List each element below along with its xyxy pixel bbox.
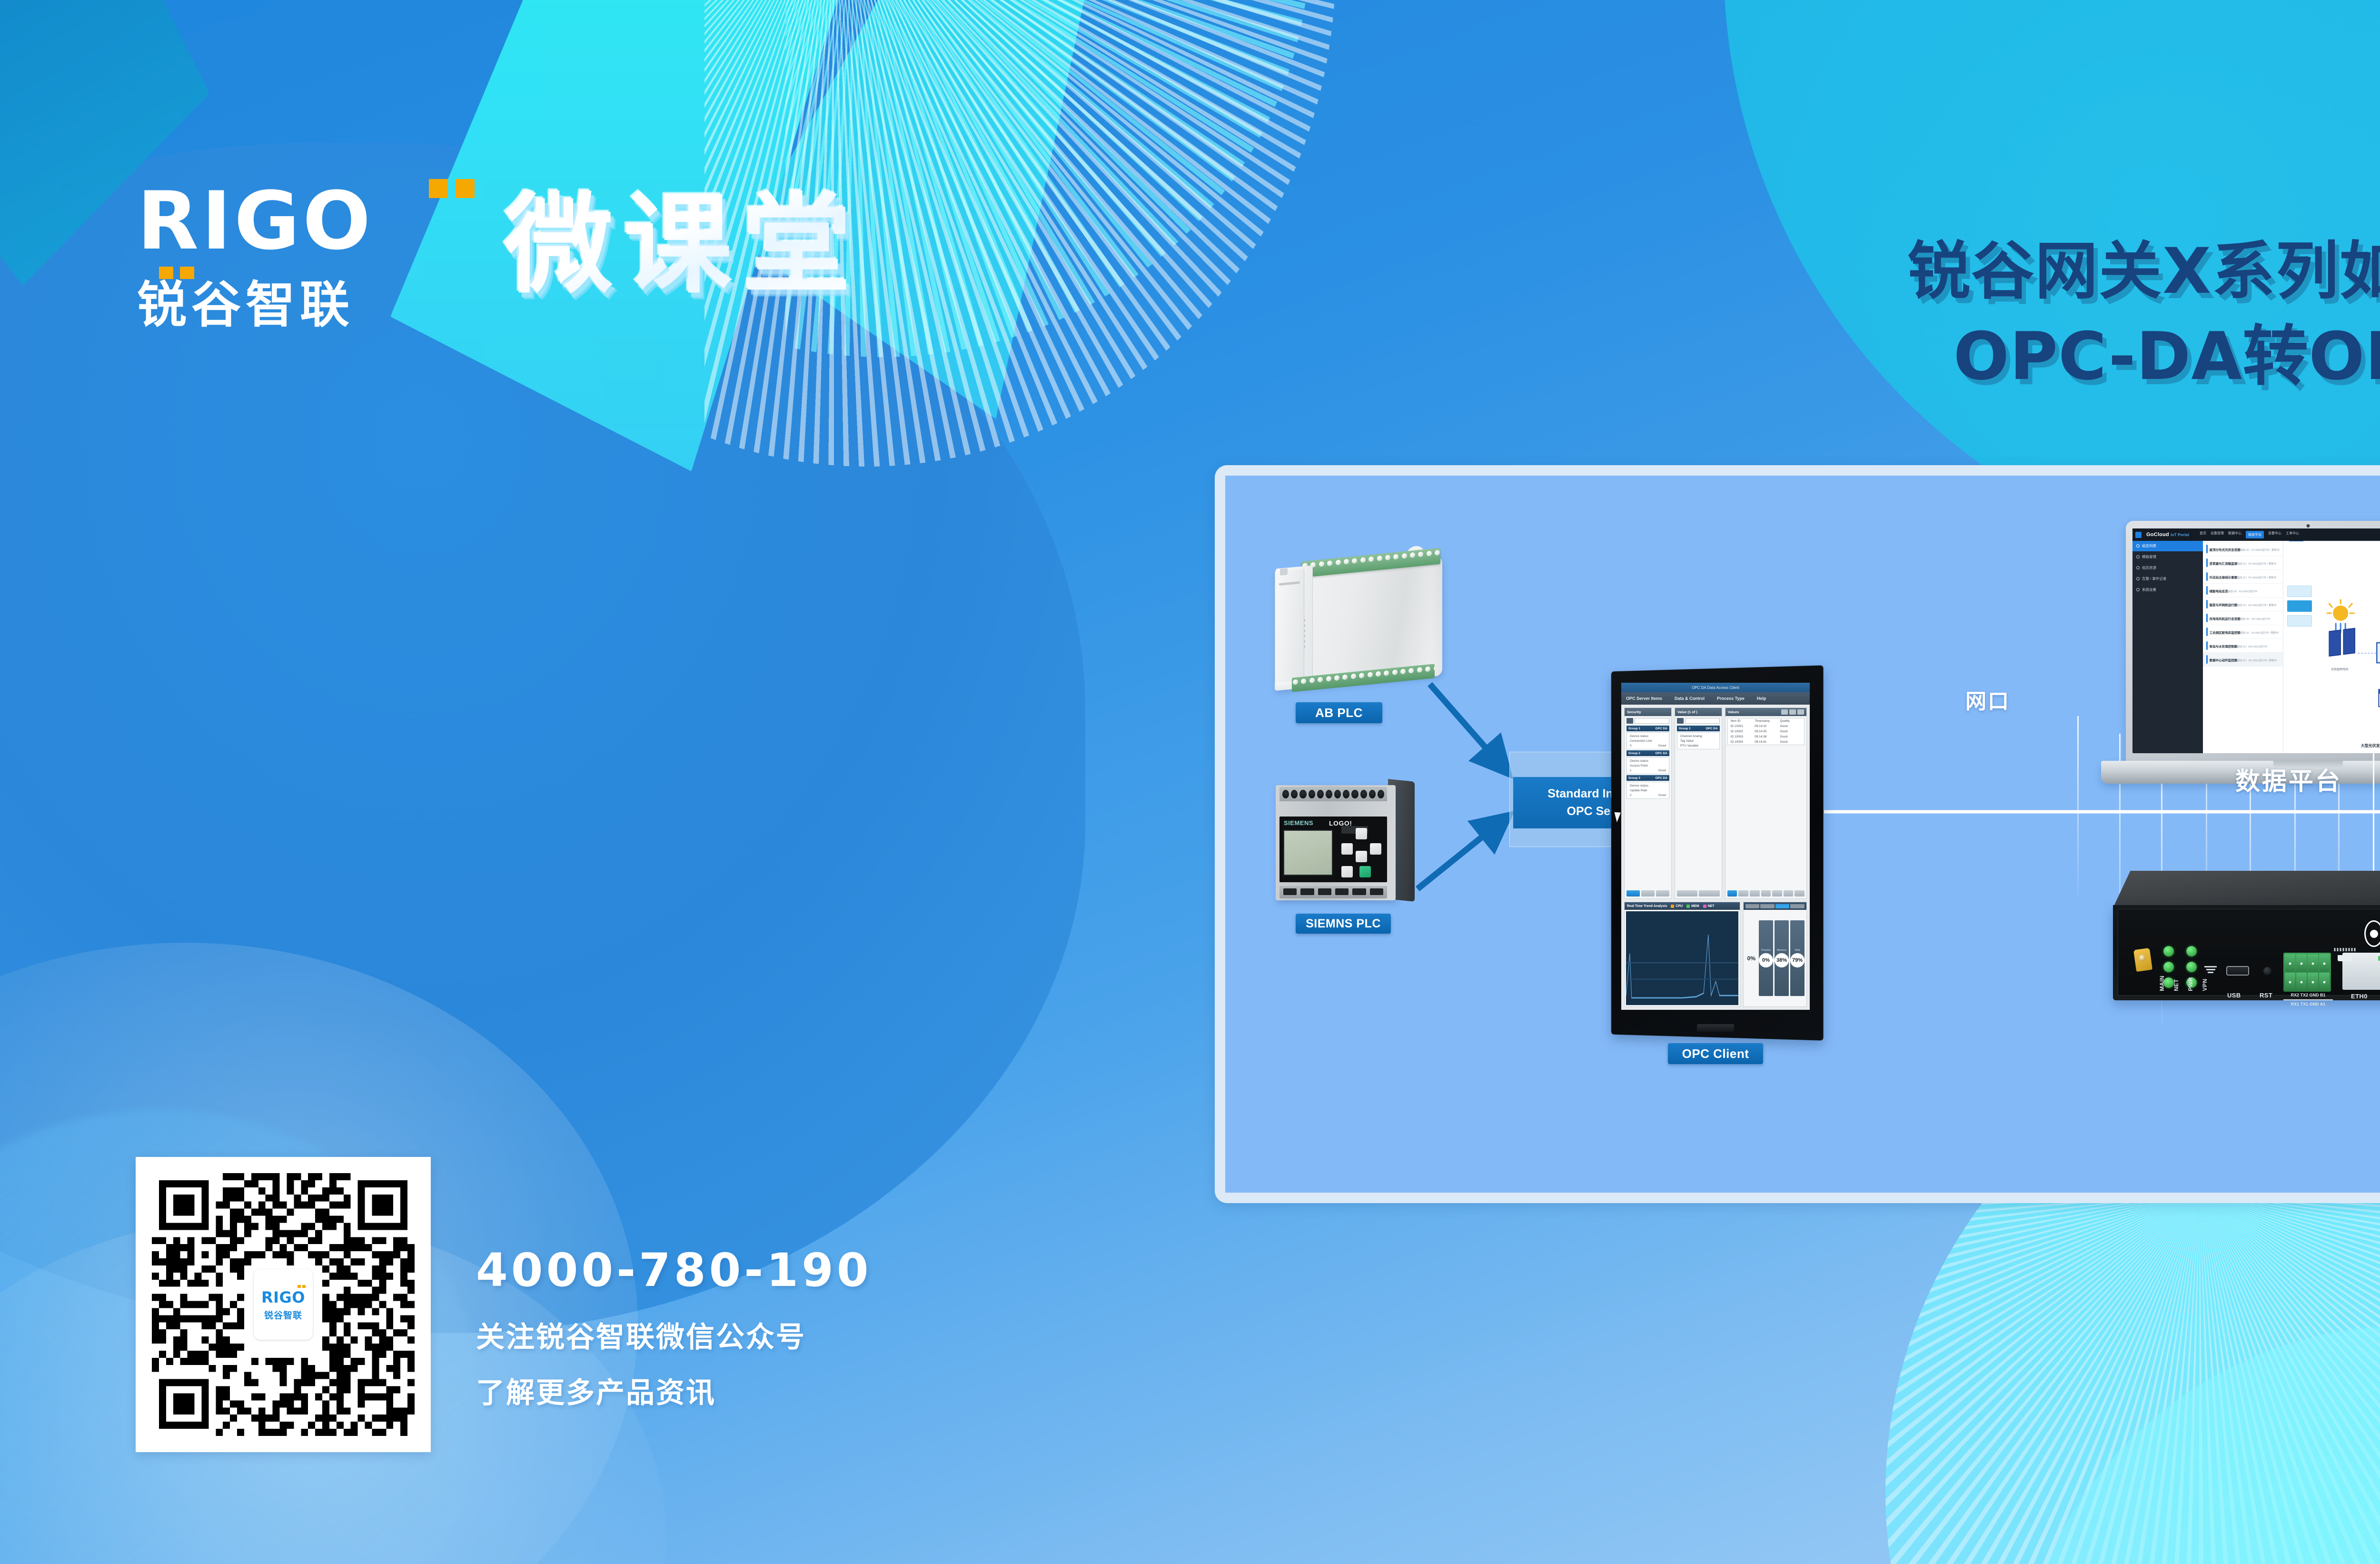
laptop-lid: 组态平台 组态列表模板管理组态资源告警 / 事件记录系统设置 光伏电站组态视图图… <box>2126 521 2380 763</box>
table-header-row: Item IDTimestampQuality <box>1728 718 1804 724</box>
list-item[interactable]: 风电场风机运行总览图组态 ID：WT-0001运行中 <box>2203 611 2283 625</box>
qr-logo-word: RIGO <box>261 1288 305 1306</box>
software-panel-security: Security Group 1OPC DADevice statusConne… <box>1624 707 1672 899</box>
hotline-number: 4000-780-190 <box>476 1247 872 1293</box>
list-item[interactable]: Device status <box>1627 758 1669 763</box>
gauge-value: 0% <box>1759 953 1773 967</box>
group-name: Group 1 <box>1679 727 1691 730</box>
eth0-port[interactable] <box>2342 953 2380 990</box>
table-cell: 09:14:32 <box>1755 725 1780 728</box>
group-header[interactable]: Group 2OPC DA <box>1626 750 1669 756</box>
network-port-label: 网口 <box>1965 684 2010 715</box>
nav-item[interactable]: 设备管理 <box>2211 531 2224 538</box>
read-button[interactable] <box>1727 890 1737 897</box>
chart-title: Real Time Trend Analysis <box>1627 905 1667 908</box>
menu-item[interactable]: Process Type <box>1717 696 1745 701</box>
group-header[interactable]: Group 1OPC DA <box>1626 726 1669 731</box>
grid-icon <box>1677 718 1684 724</box>
export-button[interactable] <box>1784 890 1794 897</box>
platform-logo-icon <box>2135 532 2142 538</box>
search-input[interactable] <box>1635 718 1669 724</box>
sidebar-item-label: 系统设置 <box>2142 587 2156 592</box>
keypad-up-button[interactable] <box>1356 828 1367 839</box>
connect-button[interactable] <box>1626 890 1640 897</box>
list-item: 0Good <box>1627 743 1669 748</box>
group-type: OPC DA <box>1656 727 1667 730</box>
group-type: OPC DA <box>1706 727 1717 730</box>
group-name: Group 2 <box>1628 752 1640 755</box>
legend-cpu: CPU <box>1671 905 1683 908</box>
gauge-memory: Memory 38% <box>1775 920 1789 996</box>
monitor-stand <box>1697 1024 1734 1032</box>
platform-canvas[interactable]: 光伏组件阵列 光伏逆变器 <box>2283 542 2380 753</box>
ab-plc-top-screws <box>1302 548 1440 568</box>
list-item: 1Good <box>1627 768 1669 773</box>
sidebar-item-label: 模板管理 <box>2142 554 2156 559</box>
gauge-caption: Memory <box>1777 949 1786 952</box>
panel-header-text: Values <box>1728 710 1739 714</box>
gauge-value: 79% <box>1790 953 1805 967</box>
pwr-label: PWR <box>2187 976 2194 991</box>
logo-chinese-dots-icon <box>159 267 194 279</box>
table-row[interactable]: ID 1000309:14:38Good <box>1728 734 1804 739</box>
panel-header: Security <box>1625 708 1671 716</box>
ab-plc-device-image <box>1275 546 1442 695</box>
serial-terminal-block[interactable] <box>2283 953 2331 992</box>
panel-header-text: Value (1 of ) <box>1677 710 1697 714</box>
chart-header: Real Time Trend Analysis CPU MEM NET <box>1625 902 1740 910</box>
gateway-front-panel: MAIN NET PWR VPN USB RST RX2 TX2 GND B1 … <box>2113 905 2380 1000</box>
list-item[interactable]: 工业园区配电房监控图组态 ID：IN-0001运行中 / 更新中 <box>2203 625 2283 639</box>
logo-chinese-name: 锐谷智联 <box>137 276 354 334</box>
siemens-plc-bottom-terminals <box>1279 886 1387 898</box>
list-item[interactable]: Device status <box>1627 783 1669 788</box>
nav-item[interactable]: 告警中心 <box>2268 531 2281 538</box>
table-cell: 09:14:41 <box>1755 740 1780 744</box>
column-header: Quality <box>1780 719 1801 723</box>
panel-button-row[interactable] <box>1625 888 1671 898</box>
list-item[interactable]: Update Rate <box>1627 788 1669 793</box>
search-input[interactable] <box>1685 718 1720 724</box>
panel-tool-icons[interactable] <box>1781 709 1804 715</box>
list-item[interactable]: 升压站主接线示意图组态 ID：PV-0004运行中 / 更新中 <box>2203 570 2283 584</box>
opc-client-software-screen: OPC DA Data Access Client OPC Server Ite… <box>1621 683 1810 1010</box>
platform-brand: GoCloud IoT Portal <box>2146 532 2189 538</box>
usb-port[interactable] <box>2226 966 2249 976</box>
gauge-process: Process 0% <box>1759 920 1773 996</box>
sidebar-item[interactable]: 告警 / 事件记录 <box>2132 573 2203 584</box>
gauge-caption: Disk <box>1795 949 1800 952</box>
platform-software-screen: 组态平台 组态列表模板管理组态资源告警 / 事件记录系统设置 光伏电站组态视图图… <box>2132 528 2380 753</box>
sidebar-item-label: 组态资源 <box>2142 565 2156 570</box>
ab-plc-io-module <box>1275 569 1304 683</box>
gateway-face-plate <box>2118 909 2380 996</box>
qr-grid: RIGO 锐谷智联 <box>152 1173 415 1436</box>
menu-item[interactable]: Data & Control <box>1675 696 1705 701</box>
opc-client-label: OPC Client <box>1668 1043 1763 1064</box>
sidebar-items[interactable]: 组态列表模板管理组态资源告警 / 事件记录系统设置 <box>2132 540 2203 595</box>
list-item[interactable]: 屋顶分布式光伏总览图组态 ID：PV-0002运行中 / 更新中 <box>2203 542 2283 556</box>
gateway-top-cover <box>2113 871 2380 908</box>
table-cell: ID 10001 <box>1731 725 1755 728</box>
group-name: Group 3 <box>1628 777 1640 780</box>
list-item[interactable]: Channel Analog <box>1677 734 1719 738</box>
stop-button[interactable] <box>1772 890 1782 897</box>
table-cell: Good <box>1780 730 1801 733</box>
list-item[interactable]: Tag Value <box>1677 738 1719 743</box>
list-item[interactable]: Connection Link <box>1627 738 1669 743</box>
refresh-button[interactable] <box>1750 890 1760 897</box>
list-item[interactable]: 储能电站总览组态 ID：ES-0001运行中 <box>2203 584 2283 598</box>
keypad-right-button[interactable] <box>1370 843 1381 855</box>
table-row[interactable]: ID 1000109:14:32Good <box>1728 724 1804 729</box>
vpn-label: VPN <box>2201 976 2208 991</box>
table-cell: 09:14:35 <box>1755 730 1780 733</box>
page-title: 锐谷网关X系列如何实现 OPC-DA转OPC-UA <box>1907 233 2380 397</box>
panel-button-row[interactable] <box>1725 888 1806 898</box>
list-item: 2Good <box>1627 793 1669 797</box>
svg-text:光伏组件阵列: 光伏组件阵列 <box>2331 667 2349 671</box>
gauge-value: 38% <box>1775 953 1789 967</box>
reset-button-label: RST <box>2260 992 2272 999</box>
write-button[interactable] <box>1738 890 1748 897</box>
callout-dot <box>2370 930 2378 938</box>
opc-client-monitor: OPC DA Data Access Client OPC Server Ite… <box>1609 668 1822 1037</box>
table-cell: 09:14:38 <box>1755 735 1780 738</box>
close-button[interactable] <box>1795 890 1805 897</box>
group-name: Group 1 <box>1628 727 1640 730</box>
logo-wordmark-row: RIGO <box>137 181 480 276</box>
antenna-connector-icon <box>2133 948 2152 972</box>
table-cell: Good <box>1780 735 1801 738</box>
siemens-plc-front-face: SIEMENS LOGO! <box>1279 817 1387 882</box>
headline-line-1: 锐谷网关X系列如何实现 <box>1907 233 2380 310</box>
table-cell: ID 10003 <box>1731 735 1755 738</box>
keypad-left-button[interactable] <box>1341 843 1353 855</box>
column-header: Item ID <box>1731 719 1755 723</box>
sidebar-item[interactable]: 组态列表 <box>2132 540 2203 551</box>
table-cell: Good <box>1780 725 1801 728</box>
filter-icon <box>1781 709 1788 715</box>
delete-button[interactable] <box>1699 890 1719 897</box>
list-item[interactable]: 逆变器与汇流箱监测组态 ID：PV-0003运行中 / 更新中 <box>2203 556 2283 570</box>
panel-button-row[interactable] <box>1675 888 1722 898</box>
software-menubar[interactable]: OPC Server ItemsData & ControlProcess Ty… <box>1621 692 1810 705</box>
canvas-caption: 大型光伏发电及电力调度图 <box>2361 743 2380 748</box>
qr-logo-chinese: 锐谷智联 <box>264 1308 302 1321</box>
software-panel-values: Values Item IDTimestampQualityID 1000109… <box>1725 707 1807 899</box>
nav-item[interactable]: 组态平台 <box>2246 531 2264 538</box>
series-title: 微课堂 <box>505 190 862 299</box>
trend-plot-area <box>1626 911 1738 1005</box>
more-info-text: 了解更多产品资讯 <box>476 1370 872 1411</box>
eth0-label: ETH0 <box>2351 993 2368 1000</box>
sidebar-item[interactable]: 模板管理 <box>2132 551 2203 562</box>
group-header[interactable]: Group 1 OPC DA <box>1677 726 1720 731</box>
solar-plant-schematic: 光伏组件阵列 光伏逆变器 <box>2283 542 2380 753</box>
menu-item[interactable]: OPC Server Items <box>1626 696 1662 701</box>
group-rows[interactable]: Device statusUpdate Rate2Good <box>1626 782 1669 799</box>
gauge-disk: Disk 79% <box>1790 920 1805 996</box>
panel-search-row[interactable] <box>1675 716 1722 726</box>
sidebar-item[interactable]: 系统设置 <box>2132 584 2203 595</box>
sidebar-item-label: 组态列表 <box>2142 543 2156 548</box>
terminal-top-label: RX2 TX2 GND B1 <box>2283 992 2333 999</box>
start-button[interactable] <box>1761 890 1771 897</box>
keypad-down-button[interactable] <box>1356 851 1367 862</box>
signal-strength-icon <box>2203 966 2218 975</box>
add-button[interactable] <box>1677 890 1697 897</box>
main-label: MAIN <box>2159 976 2165 991</box>
configuration-list[interactable]: 光伏电站组态视图图组态 ID：PV-0001运行中 / 更新中屋顶分布式光伏总览… <box>2203 528 2284 753</box>
nav-item[interactable]: 工单中心 <box>2286 531 2299 538</box>
rigo-gateway-device: MAIN NET PWR VPN USB RST RX2 TX2 GND B1 … <box>2113 871 2380 1004</box>
list-item[interactable]: Access Point <box>1627 763 1669 768</box>
headline-line-2: OPC-DA转OPC-UA <box>1907 317 2380 397</box>
platform-brand-text: GoCloud <box>2146 532 2169 538</box>
grid-icon <box>1626 718 1633 724</box>
architecture-diagram-panel: AB PLC SIEMENS LOGO! SIEMNS PLC <box>1215 465 2380 1203</box>
list-item[interactable]: 箱变与环网柜运行图组态 ID：ES-0002运行中 / 更新中 <box>2203 598 2283 611</box>
panel-search-row[interactable] <box>1625 716 1671 726</box>
list-item[interactable]: 泵站与水处理控制图组态 ID：WS-0001运行中 <box>2203 639 2283 653</box>
data-platform-label: 数据平台 <box>2235 761 2342 797</box>
platform-sidebar: 组态平台 组态列表模板管理组态资源告警 / 事件记录系统设置 <box>2132 528 2203 753</box>
net-label: NET <box>2173 976 2180 991</box>
settings-icon <box>1797 709 1804 715</box>
terminal-labels: RX2 TX2 GND B1 RX1 TX1 GND A1 <box>2283 992 2333 1007</box>
remove-button[interactable] <box>1656 890 1669 897</box>
browse-button[interactable] <box>1641 890 1655 897</box>
list-item[interactable]: RTU Variable <box>1677 743 1719 748</box>
column-header: Timestamp <box>1755 719 1780 723</box>
group-type: OPC DA <box>1656 752 1667 755</box>
panel-header: Value (1 of ) <box>1675 708 1722 716</box>
siemens-plc-device-image: SIEMENS LOGO! <box>1276 771 1418 905</box>
gauges-row: 0% Process 0% Memory 38% Disk 79% <box>1744 910 1806 1006</box>
siemens-brand-text: SIEMENS <box>1284 819 1313 827</box>
total-gauge-value: 0% <box>1745 955 1757 962</box>
panel-header-text: Security <box>1627 710 1641 714</box>
sidebar-item[interactable]: 组态资源 <box>2132 562 2203 573</box>
list-item[interactable]: 数据中心动环监控图组态 ID：DC-0001运行中 / 更新中 <box>2203 653 2283 667</box>
sort-icon <box>1789 709 1796 715</box>
qr-center-logo: RIGO 锐谷智联 <box>254 1269 313 1340</box>
eth0-act-led <box>2378 956 2380 961</box>
reset-button[interactable] <box>2263 967 2271 975</box>
group-rows[interactable]: Device statusConnection Link0Good <box>1626 732 1669 749</box>
platform-main-area: 运行视图编辑视图设备数据数据日志告警日志 <box>2283 528 2380 753</box>
bullet-icon <box>2136 555 2140 558</box>
menu-item[interactable]: Help <box>1757 696 1766 701</box>
logo-wordmark: RIGO <box>137 181 480 261</box>
nav-item[interactable]: 首页 <box>2200 531 2206 538</box>
gauges-panel: 0% Process 0% Memory 38% Disk 79% <box>1743 902 1807 1007</box>
panel-header: Values <box>1725 708 1806 716</box>
legend-mem: MEM <box>1686 905 1699 908</box>
keypad-esc-button[interactable] <box>1341 866 1353 877</box>
logo-umlaut-dots-icon <box>429 179 475 198</box>
values-table[interactable]: Item IDTimestampQualityID 1000109:14:32G… <box>1727 718 1805 745</box>
contact-block: 4000-780-190 关注锐谷智联微信公众号 了解更多产品资讯 <box>476 1247 872 1411</box>
siemens-plc-keypad <box>1339 827 1384 880</box>
gauge-caption: Process <box>1761 949 1771 952</box>
platform-brand-sub: IoT Portal <box>2171 533 2189 537</box>
table-cell: Good <box>1780 740 1801 744</box>
bullet-icon <box>2136 566 2140 569</box>
nav-item[interactable]: 数据中心 <box>2228 531 2241 538</box>
siemens-plc-top-terminals <box>1279 787 1387 801</box>
bullet-icon <box>2136 544 2140 548</box>
bullet-icon <box>2136 577 2140 580</box>
group-rows[interactable]: Device statusAccess Point1Good <box>1626 757 1669 774</box>
group-header[interactable]: Group 3OPC DA <box>1626 775 1669 781</box>
rigo-logo: RIGO 锐谷智联 <box>137 181 480 331</box>
led-labels: MAIN NET PWR VPN <box>2159 976 2208 991</box>
wechat-qr-code[interactable]: RIGO 锐谷智联 <box>136 1157 431 1452</box>
table-row[interactable]: ID 1000209:14:35Good <box>1728 729 1804 734</box>
table-row[interactable]: ID 1000409:14:41Good <box>1728 739 1804 745</box>
bullet-icon <box>2136 588 2140 591</box>
platform-nav[interactable]: 首页设备管理数据中心组态平台告警中心工单中心 <box>2200 531 2299 538</box>
table-cell: ID 10002 <box>1731 730 1755 733</box>
software-panel-value: Value (1 of ) Group 1 OPC DA Channel Ana… <box>1675 707 1722 899</box>
usb-port-label: USB <box>2227 992 2241 999</box>
group-list[interactable]: Group 1OPC DADevice statusConnection Lin… <box>1625 726 1671 800</box>
software-body: Security Group 1OPC DADevice statusConne… <box>1621 705 1810 902</box>
keypad-ok-button[interactable] <box>1359 866 1371 877</box>
webcam-icon <box>2307 524 2310 528</box>
sidebar-item-label: 告警 / 事件记录 <box>2142 576 2166 581</box>
software-titlebar: OPC DA Data Access Client <box>1621 683 1810 692</box>
legend-net: NET <box>1703 905 1715 908</box>
software-title: OPC DA Data Access Client <box>1692 686 1739 690</box>
item-list[interactable]: Channel AnalogTag ValueRTU Variable <box>1677 732 1720 749</box>
ab-plc-label: AB PLC <box>1296 702 1382 723</box>
table-cell: ID 10004 <box>1731 740 1755 744</box>
diagram-canvas: AB PLC SIEMENS LOGO! SIEMNS PLC <box>1225 476 2380 1193</box>
software-bottom-row: Real Time Trend Analysis CPU MEM NET <box>1621 902 1810 1010</box>
siemens-plc-lcd-screen <box>1283 830 1333 876</box>
group-type: OPC DA <box>1656 777 1667 780</box>
siemens-plc-label: SIEMNS PLC <box>1296 914 1391 934</box>
terminal-bottom-label: RX1 TX1 GND A1 <box>2283 1001 2333 1008</box>
platform-topbar: GoCloud IoT Portal 首页设备管理数据中心组态平台告警中心工单中… <box>2132 528 2380 541</box>
logo-chinese-name-wrap: 锐谷智联 <box>137 279 480 331</box>
trend-chart-panel: Real Time Trend Analysis CPU MEM NET <box>1624 902 1740 1007</box>
follow-wechat-text: 关注锐谷智联微信公众号 <box>476 1314 872 1355</box>
gauges-header[interactable] <box>1744 902 1806 910</box>
list-item[interactable]: Device status <box>1627 734 1669 738</box>
